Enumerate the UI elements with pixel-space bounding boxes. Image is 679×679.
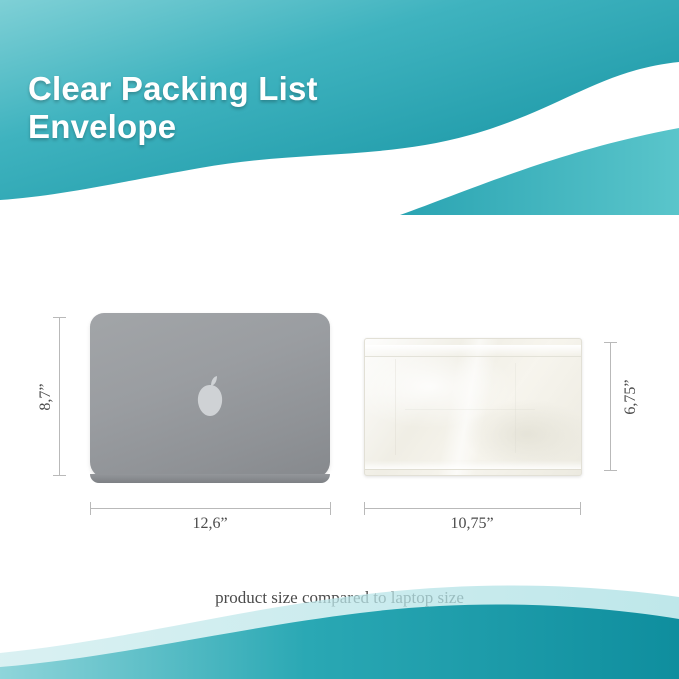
page-title: Clear Packing List Envelope [28,70,448,146]
envelope-bottom-edge [365,460,581,470]
envelope-crease-1 [395,359,396,455]
envelope-width-tick-left [364,502,365,515]
envelope-width-label: 10,75” [364,515,580,533]
laptop-width-line [90,508,330,509]
envelope-sheen [365,339,581,475]
size-comparison: 8,7” 12,6” 6,75” 10,75” [0,290,679,550]
footer-banner [0,549,679,679]
envelope-height-tick-top [604,342,617,343]
laptop-height-tick-bottom [53,475,66,476]
envelope-image [364,338,582,476]
footer-wave-shape [0,549,679,679]
product-infographic: Clear Packing List Envelope 8,7” 12,6” [0,0,679,679]
envelope-crease-3 [405,409,535,410]
envelope-flap [365,345,581,357]
envelope-crease-2 [515,363,516,453]
laptop-image [90,313,330,478]
laptop-height-line [59,317,60,475]
header-banner: Clear Packing List Envelope [0,0,679,215]
envelope-height-tick-bottom [604,470,617,471]
envelope-height-line [610,342,611,470]
envelope-width-line [364,508,580,509]
pear-logo-icon [193,375,227,417]
laptop-width-label: 12,6” [90,515,330,533]
laptop-width-tick-left [90,502,91,515]
envelope-height-label: 6,75” [622,372,640,422]
laptop-height-tick-top [53,317,66,318]
laptop-height-label: 8,7” [37,377,55,417]
envelope-width-tick-right [580,502,581,515]
laptop-width-tick-right [330,502,331,515]
